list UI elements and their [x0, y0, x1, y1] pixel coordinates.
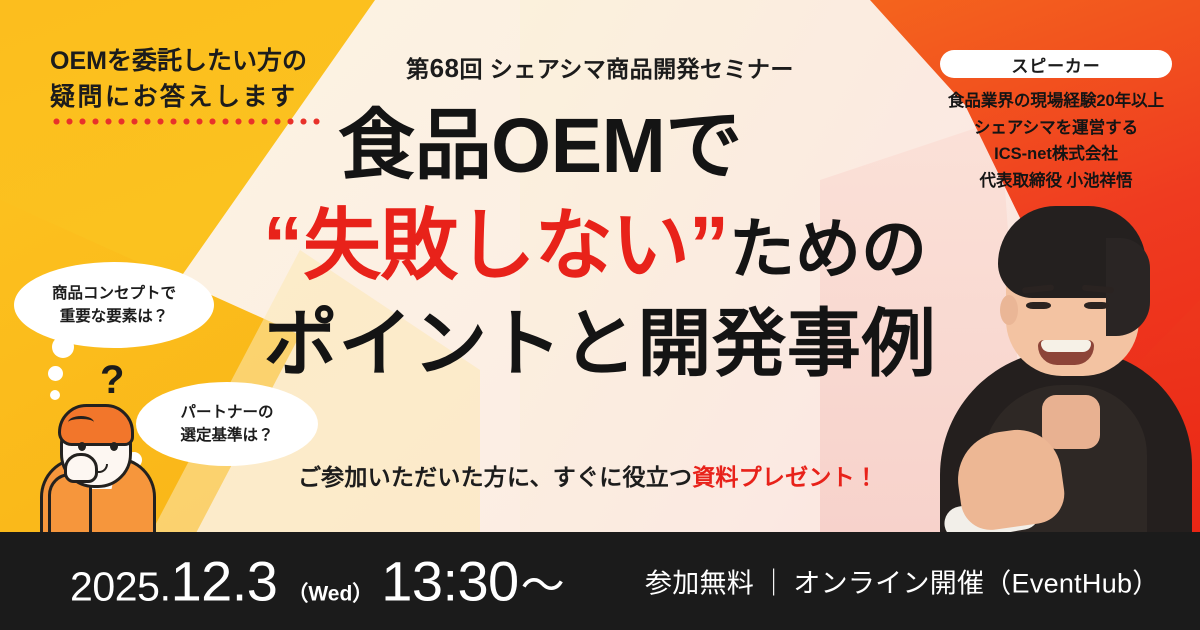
- eyebrow-suffix: 回 シェアシマ商品開発セミナー: [459, 56, 793, 82]
- bubble-1-line-1: 商品コンセプトで: [52, 282, 176, 305]
- headline-line-2-tail: ための: [729, 212, 927, 286]
- character-eye-right: [110, 442, 118, 451]
- speaker-line-3: ICS-net株式会社: [940, 141, 1172, 168]
- info-separator: ｜: [760, 569, 787, 599]
- photo-ear-left: [1000, 295, 1018, 325]
- character-hand: [64, 453, 98, 483]
- bubble-2-line-1: パートナーの: [180, 401, 273, 424]
- bubble-tail-dot-1: [52, 336, 74, 358]
- thought-bubble-2: パートナーの 選定基準は？: [136, 382, 318, 466]
- bubble-tail-dot-2: [48, 366, 63, 381]
- speaker-photo: [930, 190, 1200, 535]
- photo-teeth: [1041, 340, 1091, 352]
- quote-open: “: [263, 200, 303, 289]
- headline-emphasis: 失敗しない: [303, 201, 689, 289]
- speaker-badge: スピーカー: [940, 50, 1172, 78]
- event-format: オンライン開催（EventHub）: [793, 569, 1159, 599]
- photo-eye-right: [1084, 302, 1109, 309]
- eyebrow-number: 68: [430, 53, 460, 83]
- character-hair-swirl: [68, 416, 94, 429]
- event-time-tilde: ～: [521, 550, 565, 614]
- photo-mouth: [1038, 340, 1094, 365]
- speaker-details: 食品業界の現場経験20年以上 シェアシマを運営する ICS-net株式会社 代表…: [940, 88, 1172, 195]
- event-fee: 参加無料: [645, 569, 754, 599]
- character-eye-left: [78, 442, 86, 451]
- event-day-of-week: （Wed）: [287, 578, 373, 608]
- seminar-banner: OEMを委託したい方の 疑問にお答えします 第68回 シェアシマ商品開発セミナー…: [0, 0, 1200, 630]
- event-month-day: 12.3: [171, 549, 278, 614]
- subline-text: ご参加いただいた方に、すぐに役立つ: [298, 464, 692, 490]
- bubble-1-line-2: 重要な要素は？: [60, 305, 169, 328]
- photo-eye-left: [1026, 302, 1051, 309]
- event-time: 13:30: [381, 549, 518, 614]
- photo-neck: [1042, 395, 1100, 449]
- event-info: 参加無料｜オンライン開催（EventHub）: [645, 562, 1160, 601]
- subline-highlight: 資料プレゼント！: [692, 464, 878, 490]
- eyebrow-prefix: 第: [406, 56, 429, 82]
- footer-bar: 2025.12.3（Wed）13:30～ 参加無料｜オンライン開催（EventH…: [0, 532, 1200, 630]
- bubble-2-line-2: 選定基準は？: [180, 424, 273, 447]
- event-datetime: 2025.12.3（Wed）13:30～: [70, 549, 565, 614]
- quote-close: ”: [689, 200, 729, 289]
- thinking-character-illustration: [34, 392, 160, 535]
- speaker-line-1: 食品業界の現場経験20年以上: [940, 88, 1172, 115]
- thought-bubble-1: 商品コンセプトで 重要な要素は？: [14, 262, 214, 348]
- event-year: 2025.: [70, 564, 171, 611]
- speaker-line-2: シェアシマを運営する: [940, 115, 1172, 142]
